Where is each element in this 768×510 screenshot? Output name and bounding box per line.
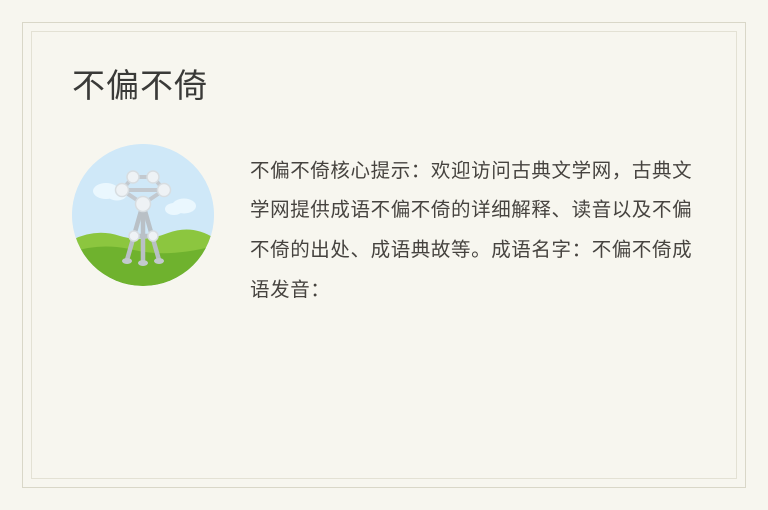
page-title: 不偏不倚 [72, 66, 696, 106]
article-body: 不偏不倚核心提示：欢迎访问古典文学网，古典文学网提供成语不偏不倚的详细解释、读音… [72, 144, 696, 311]
article-thumbnail [72, 144, 214, 286]
article-content: 不偏不倚 [72, 66, 696, 458]
inner-border: 不偏不倚 [31, 31, 737, 479]
article-text-column: 不偏不倚核心提示：欢迎访问古典文学网，古典文学网提供成语不偏不倚的详细解释、读音… [250, 144, 696, 311]
atom-structure-illustration [72, 144, 214, 286]
article-paragraph: 不偏不倚核心提示：欢迎访问古典文学网，古典文学网提供成语不偏不倚的详细解释、读音… [250, 152, 696, 311]
outer-border: 不偏不倚 [22, 22, 746, 488]
page-root: 不偏不倚 [0, 0, 768, 510]
